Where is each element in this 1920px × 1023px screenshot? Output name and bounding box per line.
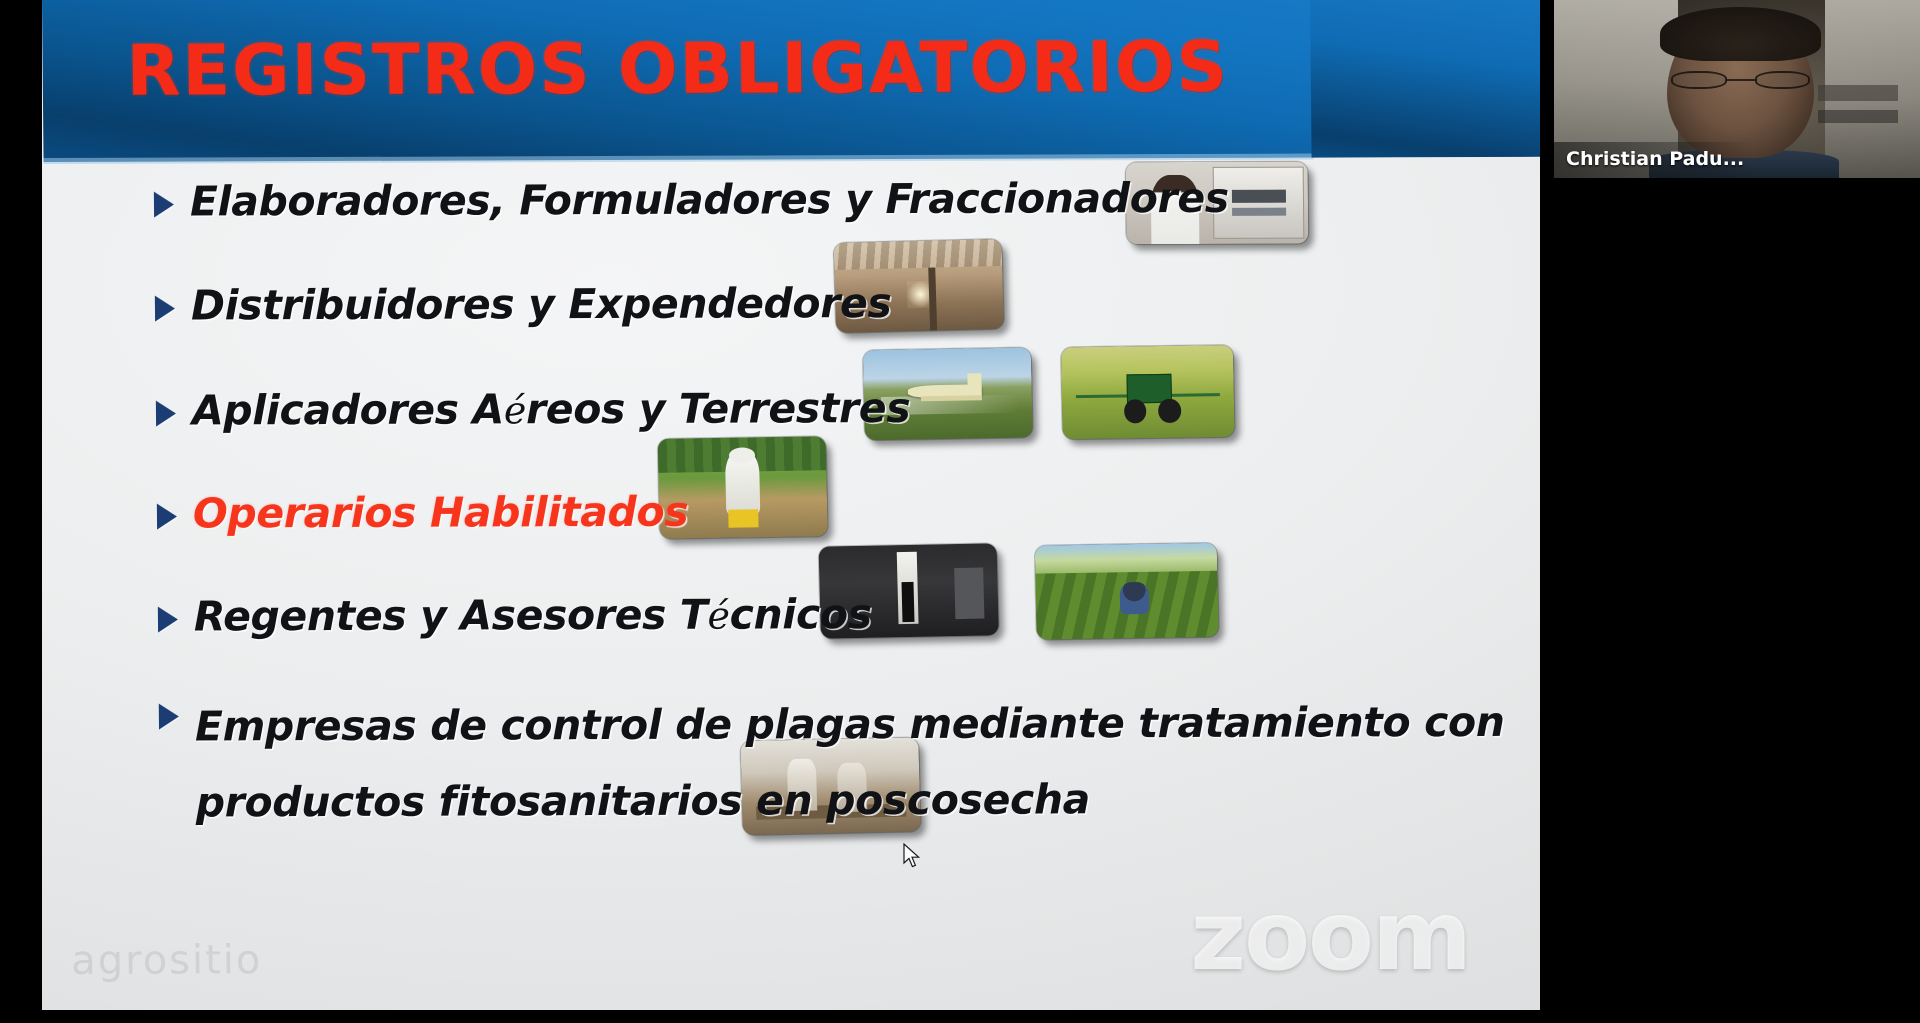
list-item: Elaboradores, Formuladores y Fraccionado… [154,174,1229,226]
glasses-icon [1671,71,1810,89]
participant-name-label: Christian Padu... [1566,148,1744,170]
zoom-meeting-window: REGISTROS OBLIGATORIOS [0,0,1920,1023]
shared-screen-region[interactable]: REGISTROS OBLIGATORIOS [42,0,1540,1010]
accent-glyph-e-acute: é [504,388,527,432]
bullet-text-regentes-part2: cnicos [729,590,871,638]
list-item: Empresas de control de plagas mediante t… [159,685,1540,842]
agronomist-in-crop-field-photo [1035,543,1219,640]
triangle-bullet-icon [155,296,175,322]
letterbox-band-bottom [0,1010,1920,1023]
deck-watermark: agrositio [71,937,263,984]
video-background-shelf-2 [1818,110,1899,122]
bullet-text-regentes: Regentes y Asesores Técnicos [194,590,872,641]
bullet-text-elaboradores: Elaboradores, Formuladores y Fraccionado… [190,174,1229,226]
slide-bullet-list: Elaboradores, Formuladores y Fraccionado… [114,165,1540,170]
list-item: Regentes y Asesores Técnicos [158,590,872,641]
list-item: Operarios Habilitados [157,488,689,538]
slide-content: REGISTROS OBLIGATORIOS [42,0,1540,1010]
zoom-watermark: zoom [1190,888,1470,984]
bullet-text-regentes-part1: Regentes y Asesores T [194,591,708,641]
triangle-bullet-icon [157,504,177,530]
page-title: REGISTROS OBLIGATORIOS [42,26,1313,112]
video-background-shelf [1818,85,1899,101]
bullet-text-aplicadores-part1: Aplicadores A [192,385,504,434]
triangle-bullet-icon [156,401,176,427]
triangle-bullet-icon [159,704,179,730]
bullet-text-aplicadores: Aplicadores Aéreos y Terrestres [192,384,911,435]
list-item: Distribuidores y Expendedores [155,279,892,330]
participant-name-strip: Christian Padu... [1554,142,1754,178]
triangle-bullet-icon [158,607,178,633]
list-item: Aplicadores Aéreos y Terrestres [156,384,911,435]
bullet-text-operarios: Operarios Habilitados [193,488,689,538]
bullet-text-empresas-control-plagas: Empresas de control de plagas mediante t… [195,685,1540,841]
slide-title-banner-extension [1310,0,1540,158]
participant-hair [1660,7,1821,60]
participant-video-tile[interactable]: Christian Padu... [1554,0,1920,178]
triangle-bullet-icon [154,192,174,218]
bullet-text-distribuidores: Distribuidores y Expendedores [191,279,892,330]
letterbox-band-left [0,0,42,1023]
accent-glyph-e-acute: é [707,594,730,638]
field-sprayer-tractor-photo [1061,345,1235,439]
presentation-slide: REGISTROS OBLIGATORIOS [42,0,1540,1010]
letterbox-band-right [1540,178,1920,1023]
bullet-text-aplicadores-part2: reos y Terrestres [526,384,911,433]
